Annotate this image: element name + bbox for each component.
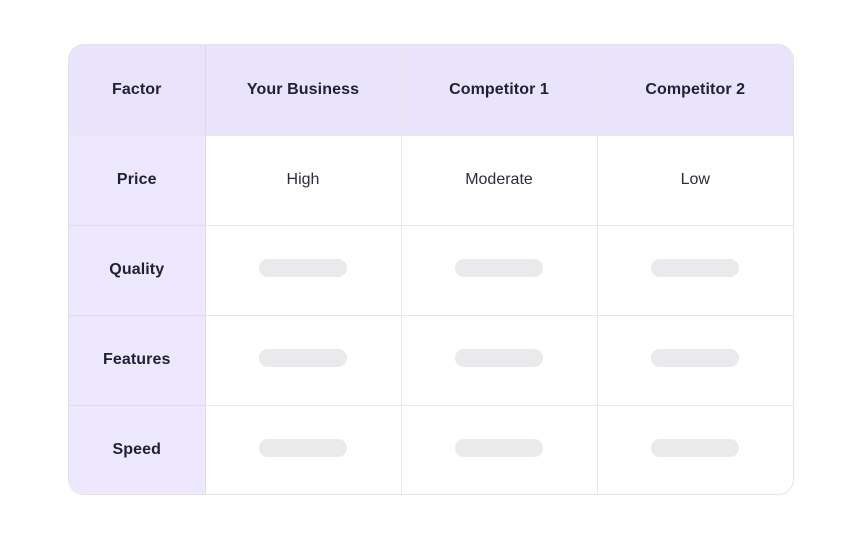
cell-price-your-business: High bbox=[205, 135, 401, 225]
placeholder-bar bbox=[455, 349, 543, 367]
cell-price-competitor-2: Low bbox=[597, 135, 793, 225]
cell-quality-competitor-2 bbox=[597, 225, 793, 315]
cell-quality-competitor-1 bbox=[401, 225, 597, 315]
cell-price-competitor-1: Moderate bbox=[401, 135, 597, 225]
column-header-factor: Factor bbox=[69, 45, 205, 135]
placeholder-bar bbox=[455, 259, 543, 277]
row-label-quality: Quality bbox=[69, 225, 205, 315]
cell-quality-your-business bbox=[205, 225, 401, 315]
row-label-speed: Speed bbox=[69, 405, 205, 495]
table-header: Factor Your Business Competitor 1 Compet… bbox=[69, 45, 793, 135]
cell-features-your-business bbox=[205, 315, 401, 405]
row-label-price: Price bbox=[69, 135, 205, 225]
cell-speed-your-business bbox=[205, 405, 401, 495]
placeholder-bar bbox=[259, 259, 347, 277]
table-header-row: Factor Your Business Competitor 1 Compet… bbox=[69, 45, 793, 135]
table-body: Price High Moderate Low Quality bbox=[69, 135, 793, 495]
cell-features-competitor-2 bbox=[597, 315, 793, 405]
placeholder-bar bbox=[259, 439, 347, 457]
cell-speed-competitor-2 bbox=[597, 405, 793, 495]
placeholder-bar bbox=[651, 349, 739, 367]
cell-speed-competitor-1 bbox=[401, 405, 597, 495]
cell-features-competitor-1 bbox=[401, 315, 597, 405]
row-label-features: Features bbox=[69, 315, 205, 405]
table-row: Speed bbox=[69, 405, 793, 495]
table-row: Price High Moderate Low bbox=[69, 135, 793, 225]
table-row: Quality bbox=[69, 225, 793, 315]
column-header-competitor-1: Competitor 1 bbox=[401, 45, 597, 135]
page-canvas: Factor Your Business Competitor 1 Compet… bbox=[0, 0, 864, 540]
placeholder-bar bbox=[259, 349, 347, 367]
comparison-table-card: Factor Your Business Competitor 1 Compet… bbox=[68, 44, 794, 495]
column-header-competitor-2: Competitor 2 bbox=[597, 45, 793, 135]
comparison-table: Factor Your Business Competitor 1 Compet… bbox=[69, 45, 793, 495]
table-row: Features bbox=[69, 315, 793, 405]
column-header-your-business: Your Business bbox=[205, 45, 401, 135]
placeholder-bar bbox=[455, 439, 543, 457]
placeholder-bar bbox=[651, 439, 739, 457]
placeholder-bar bbox=[651, 259, 739, 277]
